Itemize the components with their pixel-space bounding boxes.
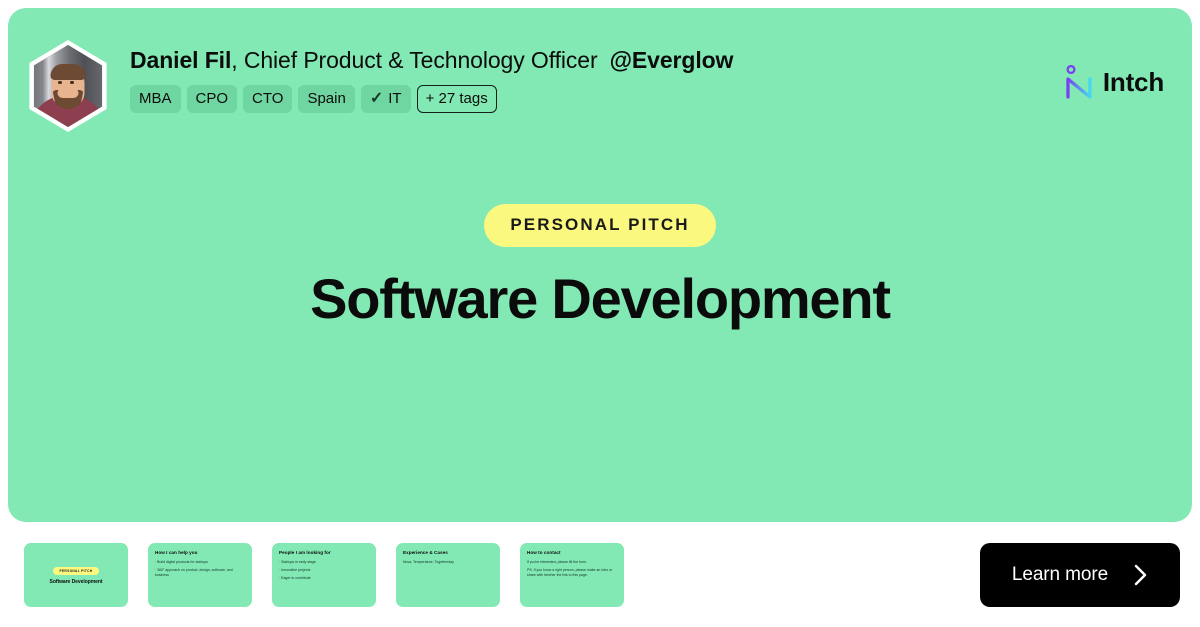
tag-cto[interactable]: CTO (243, 85, 292, 113)
learn-more-label: Learn more (1012, 564, 1108, 586)
thumbnail-heading: People I am looking for (279, 550, 369, 556)
thumbnail-body: If you're interested, please fill the fo… (527, 560, 617, 578)
tag-cpo[interactable]: CPO (187, 85, 238, 113)
profile-header: Daniel Fil, Chief Product & Technology O… (26, 38, 733, 132)
avatar[interactable] (26, 40, 110, 132)
page-title: Software Development (8, 267, 1192, 331)
thumbnail-badge: PERSONAL PITCH (53, 567, 98, 575)
profile-company-handle[interactable]: @Everglow (610, 47, 734, 73)
tag-mba[interactable]: MBA (130, 85, 181, 113)
thumbnail-heading: How I can help you (155, 550, 245, 556)
page-root: Daniel Fil, Chief Product & Technology O… (0, 0, 1200, 627)
thumbnail-heading: How to contact (527, 550, 617, 556)
avatar-chin (58, 88, 79, 98)
thumbnail-how-to-contact[interactable]: How to contact If you're interested, ple… (520, 543, 624, 607)
slide-thumbnail-strip: PERSONAL PITCH Software Development How … (24, 543, 624, 607)
profile-text: Daniel Fil, Chief Product & Technology O… (130, 38, 733, 113)
intch-n-logo-icon (1064, 65, 1094, 99)
thumbnail-body: · Startups in early stage · Innovative p… (279, 560, 369, 581)
chevron-right-icon (1134, 564, 1148, 586)
brand-logo[interactable]: Intch (1064, 65, 1164, 99)
thumbnail-line: If you're interested, please fill the fo… (527, 560, 617, 565)
personal-pitch-badge: PERSONAL PITCH (484, 204, 715, 247)
profile-tag-list: MBA CPO CTO Spain ✓ IT + 27 tags (130, 85, 733, 113)
thumbnail-line: · Build digital products for startups (155, 560, 245, 565)
thumbnail-line: · Eager to contribute (279, 576, 369, 581)
avatar-eye-right (70, 81, 74, 84)
brand-name: Intch (1103, 67, 1164, 98)
tag-spain[interactable]: Spain (298, 85, 354, 113)
thumbnail-line: · Innovative projects (279, 568, 369, 573)
thumbnail-how-i-can-help[interactable]: How I can help you · Build digital produ… (148, 543, 252, 607)
thumbnail-line: · Startups in early stage (279, 560, 369, 565)
thumbnail-body: Nova, Temperature, Togetherday (403, 560, 493, 565)
pitch-slide: Daniel Fil, Chief Product & Technology O… (8, 8, 1192, 522)
thumbnail-line: · 360° approach on product, design, soft… (155, 568, 245, 578)
thumbnail-title: Software Development (50, 579, 103, 585)
thumbnail-line: Nova, Temperature, Togetherday (403, 560, 493, 565)
avatar-hair (51, 64, 86, 80)
profile-name: Daniel Fil (130, 47, 231, 73)
check-icon: ✓ (370, 91, 383, 106)
profile-name-line: Daniel Fil, Chief Product & Technology O… (130, 46, 733, 74)
thumbnail-line: PS. If you know a right person, please m… (527, 568, 617, 578)
thumbnail-experience-cases[interactable]: Experience & Cases Nova, Temperature, To… (396, 543, 500, 607)
profile-role: , Chief Product & Technology Officer (231, 47, 597, 73)
thumbnail-people-looking-for[interactable]: People I am looking for · Startups in ea… (272, 543, 376, 607)
thumbnail-cover[interactable]: PERSONAL PITCH Software Development (24, 543, 128, 607)
tag-it-verified[interactable]: ✓ IT (361, 85, 411, 113)
slide-content: PERSONAL PITCH Software Development (8, 204, 1192, 331)
avatar-eye-left (58, 81, 62, 84)
learn-more-button[interactable]: Learn more (980, 543, 1180, 607)
tag-it-label: IT (388, 91, 401, 106)
thumbnail-body: · Build digital products for startups · … (155, 560, 245, 578)
tag-more-count[interactable]: + 27 tags (417, 85, 497, 113)
thumbnail-heading: Experience & Cases (403, 550, 493, 556)
